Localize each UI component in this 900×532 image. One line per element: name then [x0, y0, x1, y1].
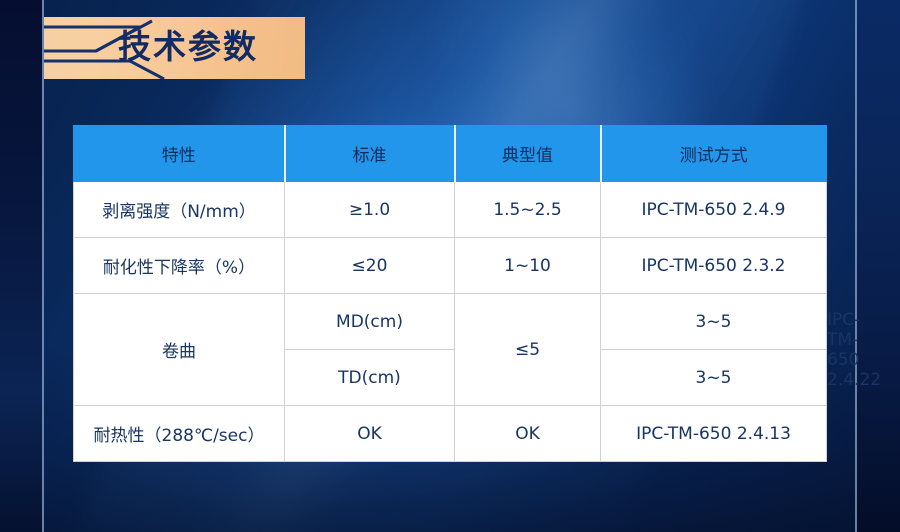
- cell-standard: ≤20: [285, 238, 455, 294]
- cell-typical: 3~5: [601, 350, 827, 406]
- column-header-property: 特性: [74, 126, 285, 182]
- page-title: 技术参数: [118, 17, 258, 79]
- column-header-method: 测试方式: [601, 126, 827, 182]
- cell-typical: 1.5~2.5: [455, 182, 601, 238]
- cell-typical: 3~5: [601, 294, 827, 350]
- cell-typical: OK: [455, 406, 601, 462]
- table-header-row: 特性 标准 典型值 测试方式: [74, 126, 827, 182]
- right-edge-rule: [855, 0, 857, 532]
- table-row: 卷曲 MD(cm) ≤5 3~5 IPC-TM-650 2.4.22: [74, 294, 827, 350]
- cell-method: IPC-TM-650 2.4.13: [601, 406, 827, 462]
- cell-subproperty-td: TD(cm): [285, 350, 455, 406]
- cell-property: 耐化性下降率（%）: [74, 238, 285, 294]
- table-row: 剥离强度（N/mm） ≥1.0 1.5~2.5 IPC-TM-650 2.4.9: [74, 182, 827, 238]
- right-edge-band: [857, 0, 900, 532]
- table-body: 剥离强度（N/mm） ≥1.0 1.5~2.5 IPC-TM-650 2.4.9…: [74, 182, 827, 462]
- column-header-typical: 典型值: [455, 126, 601, 182]
- cell-method: IPC-TM-650 2.4.9: [601, 182, 827, 238]
- column-header-standard: 标准: [285, 126, 455, 182]
- cell-property-curl: 卷曲: [74, 294, 285, 406]
- left-edge-band: [0, 0, 42, 532]
- left-edge-rule: [42, 0, 44, 532]
- cell-subproperty-md: MD(cm): [285, 294, 455, 350]
- cell-standard: ≥1.0: [285, 182, 455, 238]
- spec-table-container: 特性 标准 典型值 测试方式 剥离强度（N/mm） ≥1.0 1.5~2.5 I…: [73, 125, 826, 458]
- cell-standard: OK: [285, 406, 455, 462]
- table-row: 耐化性下降率（%） ≤20 1~10 IPC-TM-650 2.3.2: [74, 238, 827, 294]
- cell-typical: 1~10: [455, 238, 601, 294]
- title-banner: 技术参数: [44, 17, 305, 79]
- cell-property: 耐热性（288℃/sec）: [74, 406, 285, 462]
- cell-standard: ≤5: [455, 294, 601, 406]
- cell-property: 剥离强度（N/mm）: [74, 182, 285, 238]
- spec-table: 特性 标准 典型值 测试方式 剥离强度（N/mm） ≥1.0 1.5~2.5 I…: [73, 125, 827, 462]
- cell-method: IPC-TM-650 2.3.2: [601, 238, 827, 294]
- table-header: 特性 标准 典型值 测试方式: [74, 126, 827, 182]
- table-row: 耐热性（288℃/sec） OK OK IPC-TM-650 2.4.13: [74, 406, 827, 462]
